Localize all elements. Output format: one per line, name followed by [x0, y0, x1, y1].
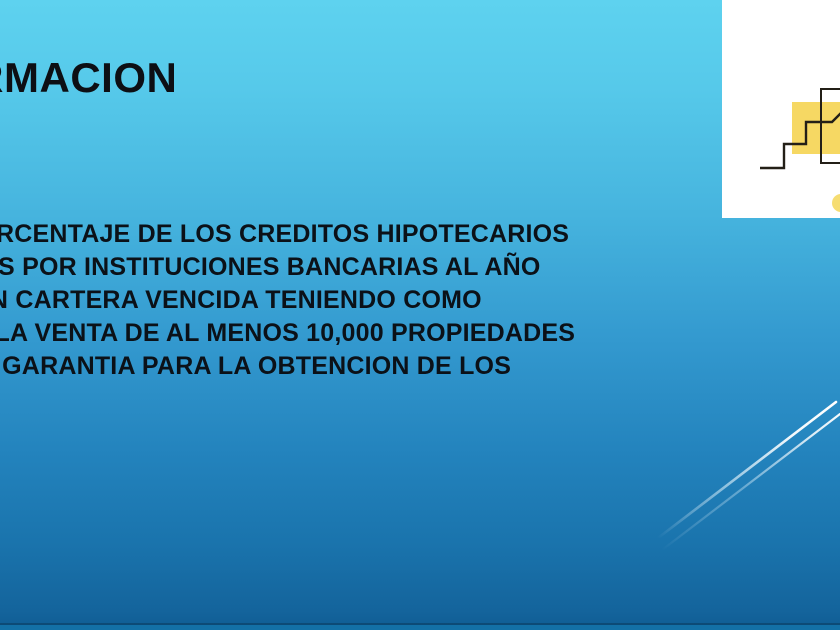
bottom-strip: [0, 625, 840, 630]
page-title: ORMACION: [0, 56, 640, 100]
body-line: LTO PORCENTAJE DE LOS CREDITOS HIPOTECAR…: [0, 218, 704, 251]
body-line: INAN EN CARTERA VENCIDA TENIENDO COMO: [0, 284, 704, 317]
brand-logo: B U Homeb: [780, 92, 840, 218]
body-line: RGADOS POR INSTITUCIONES BANCARIAS AL AÑ…: [0, 251, 704, 284]
body-line: TAS EN GARANTIA PARA LA OBTENCION DE LOS: [0, 350, 704, 383]
decorative-diagonal-lines: [640, 400, 840, 630]
logo-stairs-icon: [758, 92, 840, 170]
logo-tagline-pill: Homeb: [832, 194, 840, 212]
body-line: DITOS.: [0, 383, 704, 416]
slide-body-text: LTO PORCENTAJE DE LOS CREDITOS HIPOTECAR…: [0, 218, 704, 416]
body-line: LTADO LA VENTA DE AL MENOS 10,000 PROPIE…: [0, 317, 704, 350]
logo-panel: B U Homeb: [722, 0, 840, 218]
presentation-slide: ORMACION LTO PORCENTAJE DE LOS CREDITOS …: [0, 0, 840, 630]
